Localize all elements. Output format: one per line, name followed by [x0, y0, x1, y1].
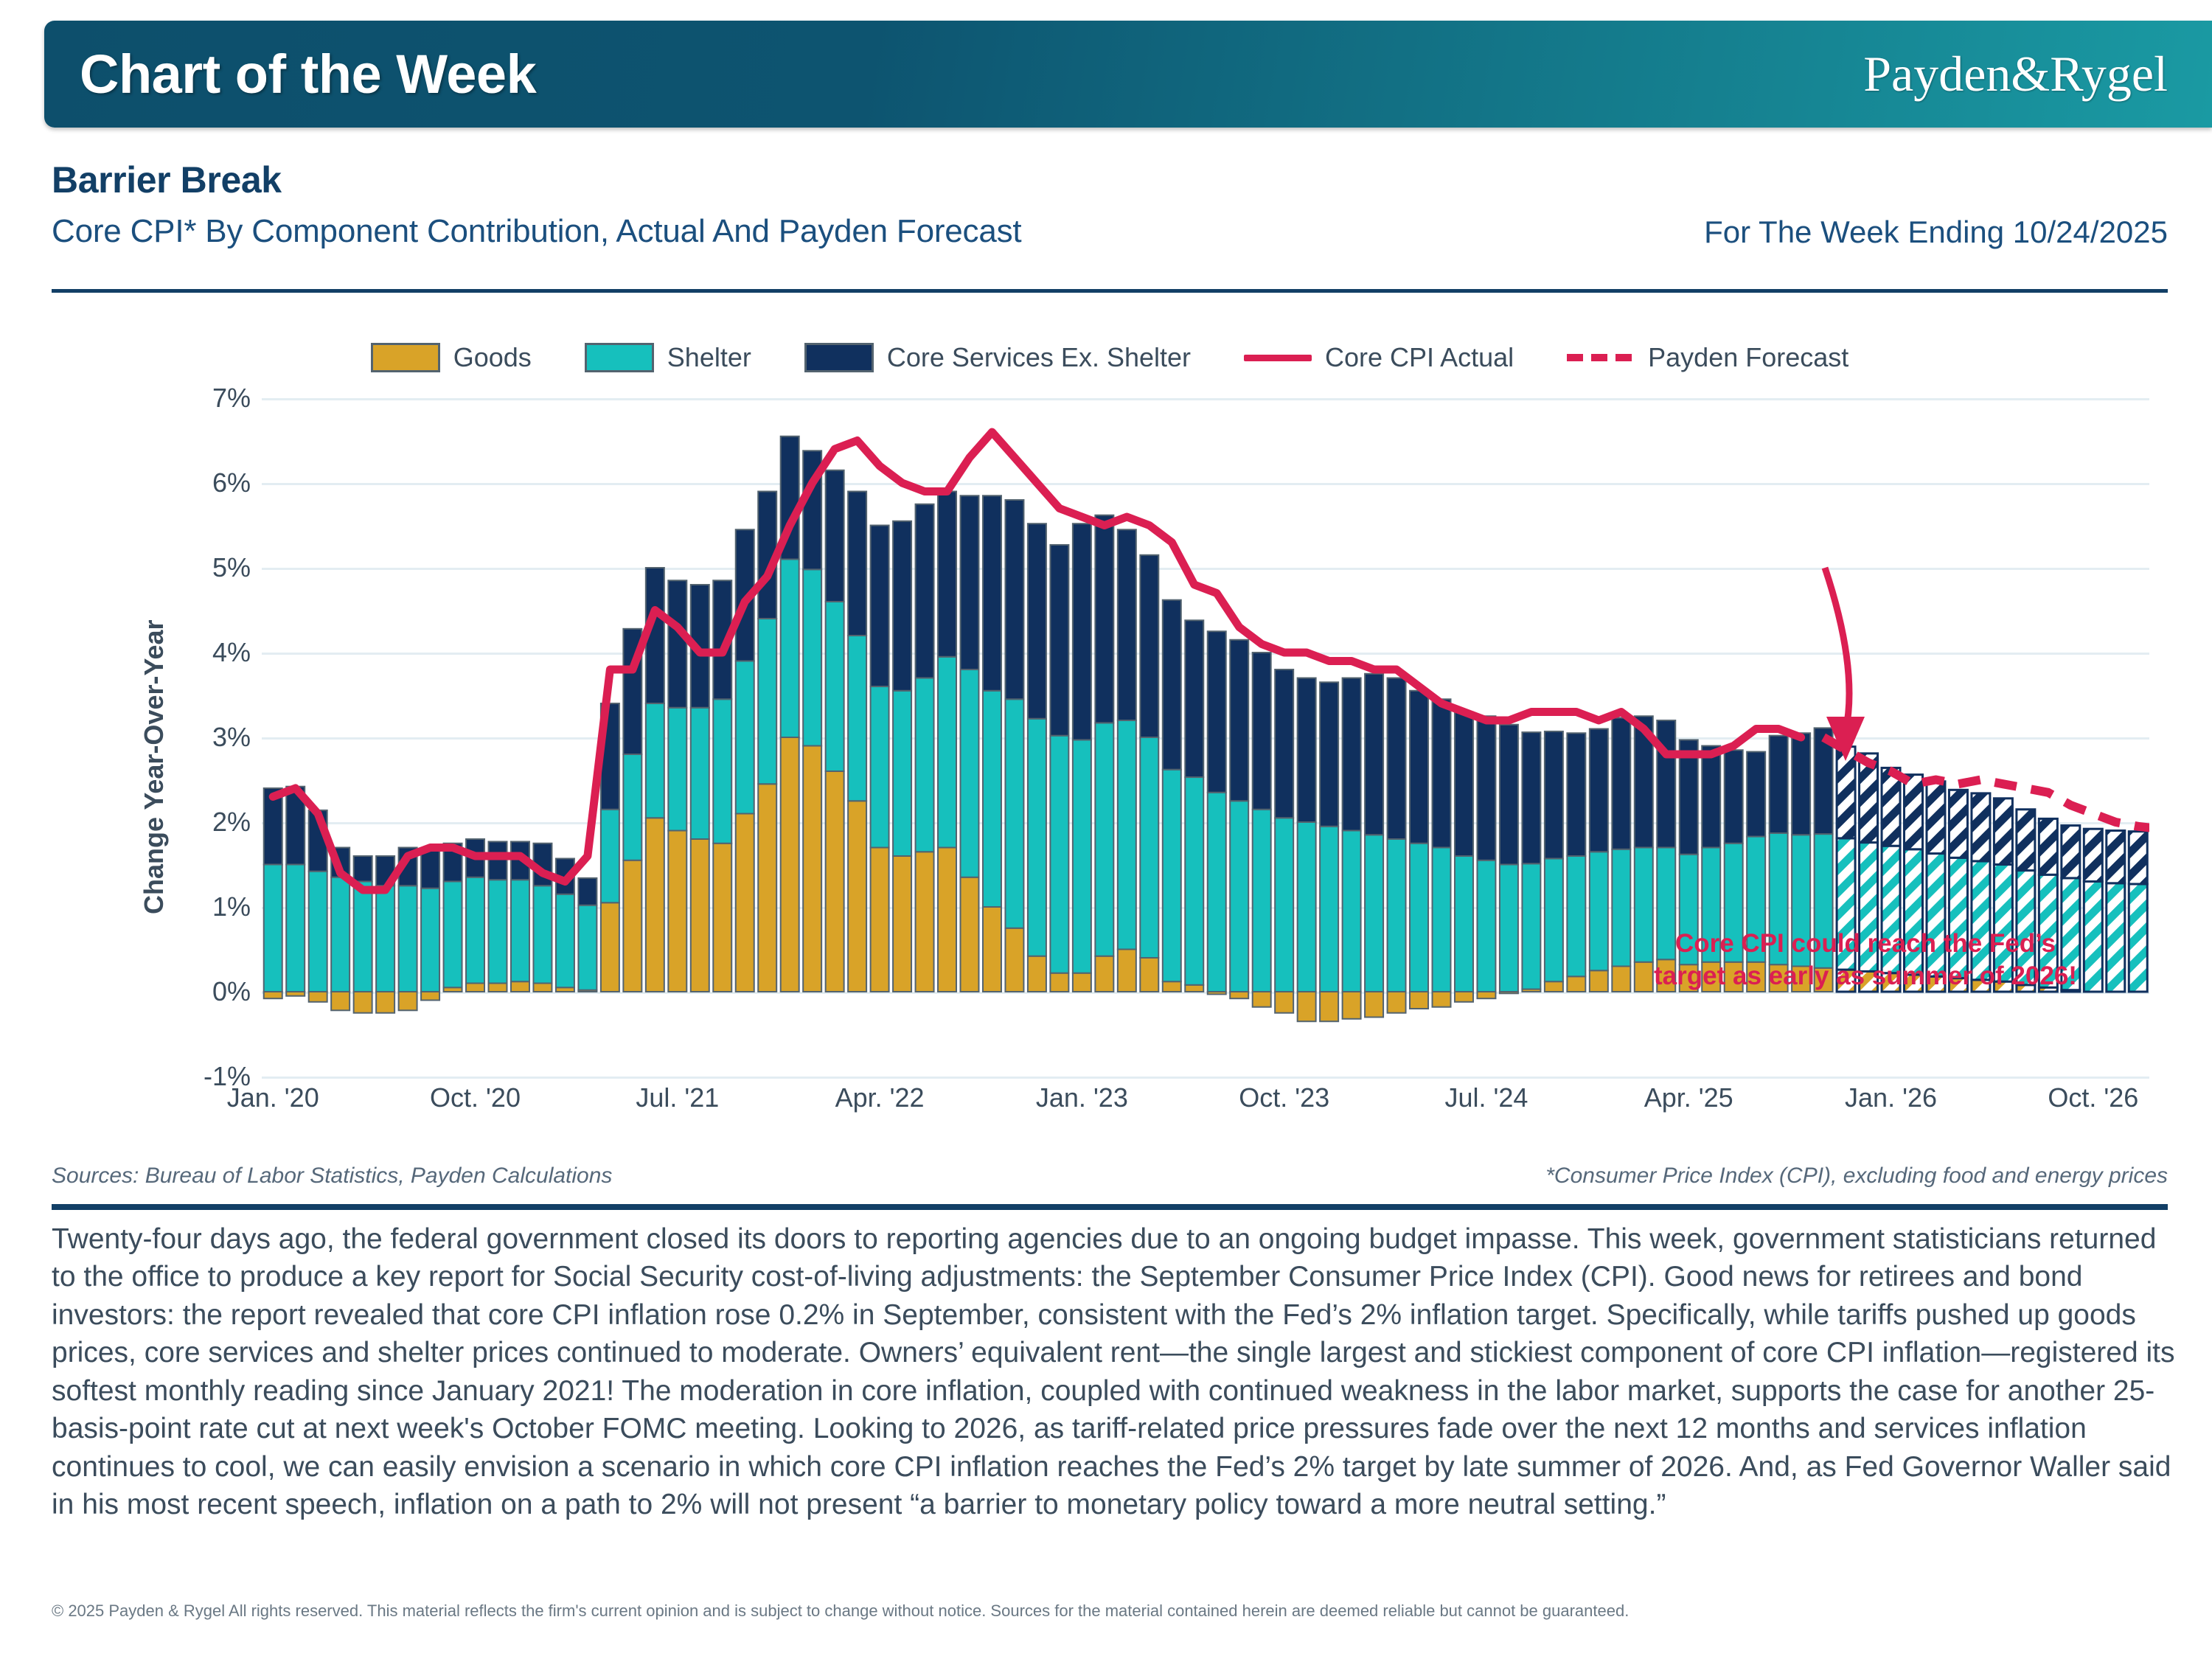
bar-segment [1005, 928, 1023, 992]
annotation-line-2: target as early as summer of 2026! [1654, 961, 2077, 990]
legend-label: Core CPI Actual [1325, 342, 1514, 373]
bar-segment [871, 848, 889, 992]
bar-segment [646, 818, 664, 992]
bar-segment [1972, 793, 1990, 861]
bar-segment [1050, 973, 1068, 992]
bar-segment [309, 992, 327, 1002]
bar-segment [1343, 678, 1361, 831]
legend-swatch [804, 343, 874, 372]
bar-segment [1073, 973, 1091, 992]
bar-segment [1657, 720, 1675, 848]
bar-segment [1837, 747, 1855, 838]
bar-segment [848, 492, 866, 636]
bar-segment [803, 746, 821, 992]
bar-segment [2084, 829, 2102, 881]
bar-segment [736, 814, 754, 992]
bar-segment [713, 699, 731, 844]
bar-segment [781, 737, 799, 992]
bar-segment [1455, 992, 1473, 1002]
bar-segment [421, 992, 439, 1001]
bar-segment [1028, 524, 1046, 719]
bar-segment [1725, 750, 1743, 844]
copyright-notice: © 2025 Payden & Rygel All rights reserve… [52, 1601, 2168, 1621]
bar-segment [1208, 631, 1226, 793]
bar-segment [871, 686, 889, 848]
x-axis-tick-label: Oct. '26 [2048, 1082, 2138, 1113]
y-axis-tick-label: 6% [162, 467, 251, 498]
bar-segment [444, 882, 462, 988]
bar-segment [916, 852, 934, 992]
bar-segment [1365, 992, 1383, 1018]
x-axis-tick-label: Jan. '20 [227, 1082, 319, 1113]
bar-segment [1275, 818, 1293, 992]
bar-segment [1410, 844, 1428, 992]
body-divider [52, 1204, 2168, 1210]
legend-label: Core Services Ex. Shelter [887, 342, 1191, 373]
chart-legend: GoodsShelterCore Services Ex. ShelterCor… [52, 335, 2168, 380]
bar-segment [1140, 555, 1158, 737]
bar-segment [1612, 718, 1630, 849]
bar-segment [938, 492, 956, 657]
legend-item-goods: Goods [371, 342, 532, 373]
bar-segment [848, 636, 866, 801]
title-block: Barrier Break Core CPI* By Component Con… [52, 159, 2168, 250]
bar-segment [466, 877, 484, 984]
bar-segment [1994, 799, 2012, 865]
bar-segment [1522, 863, 1540, 989]
bar-segment [1500, 865, 1518, 992]
bar-segment [264, 865, 282, 992]
bar-segment [916, 678, 934, 852]
bar-segment [1140, 737, 1158, 958]
bar-segment [578, 905, 597, 990]
legend-swatch [585, 343, 654, 372]
legend-item-shelter: Shelter [585, 342, 751, 373]
bar-segment [1005, 699, 1023, 928]
y-axis-ticks: -1%0%1%2%3%4%5%6%7% [155, 398, 251, 1077]
bar-segment [1388, 678, 1406, 840]
header-banner: Chart of the Week Payden&Rygel [44, 21, 2212, 128]
body-paragraph: Twenty-four days ago, the federal govern… [52, 1220, 2175, 1524]
bar-segment [1522, 732, 1540, 863]
bar-segment [1275, 992, 1293, 1013]
bar-segment [893, 691, 911, 856]
bar-segment [983, 495, 1001, 691]
legend-swatch [371, 343, 440, 372]
bar-segment [736, 661, 754, 814]
bar-segment [961, 669, 979, 877]
bar-segment [421, 888, 439, 992]
bar-segment [803, 569, 821, 745]
legend-label: Goods [453, 342, 532, 373]
bar-segment [1905, 775, 1923, 849]
bar-segment [331, 877, 349, 992]
legend-item-core-cpi-actual: Core CPI Actual [1244, 342, 1514, 373]
bar-segment [646, 703, 664, 818]
bar-segment [668, 831, 686, 992]
bar-segment [826, 771, 844, 992]
bar-segment [691, 708, 709, 839]
x-axis-tick-label: Oct. '20 [430, 1082, 521, 1113]
bar-segment [1567, 856, 1585, 976]
bar-segment [1388, 839, 1406, 992]
bar-segment [286, 865, 305, 992]
y-axis-tick-label: 4% [162, 637, 251, 668]
bar-segment [1028, 719, 1046, 956]
bar-segment [1477, 992, 1495, 998]
bar-segment [331, 992, 349, 1010]
bar-segment [938, 848, 956, 992]
bar-segment [578, 878, 597, 905]
bar-segment [1095, 515, 1113, 723]
week-ending-label: For The Week Ending 10/24/2025 [1704, 215, 2168, 250]
bar-segment [1455, 712, 1473, 857]
bar-segment [354, 992, 372, 1013]
bar-segment [421, 850, 439, 888]
source-left: Sources: Bureau of Labor Statistics, Pay… [52, 1164, 612, 1189]
bar-segment [1253, 653, 1271, 810]
x-axis-tick-label: Oct. '23 [1239, 1082, 1329, 1113]
bar-segment [1005, 500, 1023, 699]
bar-segment [1343, 992, 1361, 1019]
bar-segment [2107, 883, 2125, 992]
bar-segment [489, 984, 507, 992]
bar-segment [1253, 810, 1271, 992]
bar-segment [1927, 782, 1945, 854]
x-axis-tick-label: Apr. '25 [1644, 1082, 1733, 1113]
page-title: Chart of the Week [80, 43, 536, 105]
bar-segment [1388, 992, 1406, 1013]
chart-of-the-week-page: Chart of the Week Payden&Rygel Barrier B… [0, 0, 2212, 1659]
bar-segment [1298, 822, 1316, 992]
bar-segment [1298, 992, 1316, 1021]
bar-segment [1118, 950, 1136, 992]
bar-segment [1320, 827, 1338, 992]
x-axis-tick-label: Jul. '21 [636, 1082, 719, 1113]
bar-segment [1567, 733, 1585, 856]
bar-segment [758, 784, 776, 992]
chart-plot-area: Change Year-Over-Year -1%0%1%2%3%4%5%6%7… [52, 398, 2168, 1121]
bar-segment [399, 992, 417, 1010]
bar-segment [533, 984, 552, 992]
bar-segment [1095, 723, 1113, 956]
bar-segment [1410, 992, 1428, 1009]
bar-segment [1185, 985, 1203, 992]
bar-segment [1118, 529, 1136, 720]
bar-segment [668, 580, 686, 708]
legend-item-payden-forecast: Payden Forecast [1567, 342, 1848, 373]
chart-subtitle: Core CPI* By Component Contribution, Act… [52, 213, 1021, 250]
bar-segment [1567, 976, 1585, 992]
bar-segment [2039, 818, 2057, 874]
bar-segment [1253, 992, 1271, 1007]
bar-segment [1545, 981, 1563, 992]
bar-segment [1163, 770, 1181, 982]
bar-segment [1545, 858, 1563, 981]
bar-segment [1230, 801, 1248, 992]
bar-segment [871, 526, 889, 687]
source-right: *Consumer Price Index (CPI), excluding f… [1545, 1164, 2168, 1189]
bar-segment [533, 886, 552, 983]
y-axis-tick-label: 3% [162, 722, 251, 753]
bar-segment [1545, 731, 1563, 858]
bar-segment [376, 886, 394, 992]
bar-segment [399, 886, 417, 992]
bar-segment [623, 754, 641, 860]
bar-segment [1118, 720, 1136, 950]
bar-segment [1477, 716, 1495, 860]
bar-segment [916, 504, 934, 678]
bar-segment [1275, 669, 1293, 818]
title-divider [52, 289, 2168, 293]
y-axis-tick-label: 2% [162, 807, 251, 838]
y-axis-tick-label: 0% [162, 976, 251, 1007]
bar-segment [1230, 992, 1248, 998]
bar-segment [668, 708, 686, 831]
chart-headline: Barrier Break [52, 159, 2168, 201]
bar-segment [1230, 640, 1248, 801]
bar-segment [2129, 832, 2147, 884]
bar-segment [1073, 524, 1091, 740]
x-axis-tick-label: Apr. '22 [835, 1082, 925, 1113]
bar-segment [1612, 849, 1630, 967]
bar-segment [1477, 860, 1495, 992]
bar-segment [623, 860, 641, 992]
bar-segment [376, 992, 394, 1013]
legend-label: Payden Forecast [1648, 342, 1848, 373]
annotation-arrow-shaft [1825, 568, 1849, 731]
annotation-line-1: Core CPI could reach the Fed’s [1675, 929, 2056, 958]
bar-segment [758, 619, 776, 784]
y-axis-tick-label: 1% [162, 891, 251, 922]
bar-segment [264, 992, 282, 998]
bar-segment [2017, 810, 2035, 871]
bar-segment [489, 880, 507, 983]
bar-segment [1185, 777, 1203, 985]
bar-segment [556, 894, 574, 988]
bar-segment [1095, 956, 1113, 992]
bar-segment [1433, 992, 1451, 1007]
bar-segment [1320, 682, 1338, 827]
bar-segment [826, 470, 844, 602]
bar-segment [893, 521, 911, 691]
bar-segment [601, 810, 619, 903]
bar-segment [1208, 793, 1226, 992]
bar-segment [781, 560, 799, 738]
bar-segment [1298, 678, 1316, 823]
forecast-annotation: Core CPI could reach the Fed’s target as… [1630, 928, 2101, 992]
bar-segment [601, 902, 619, 992]
bar-segment [1365, 674, 1383, 835]
legend-line-swatch [1244, 355, 1312, 361]
bar-segment [354, 856, 372, 882]
x-axis-tick-label: Jul. '24 [1444, 1082, 1528, 1113]
bar-segment [466, 984, 484, 992]
bar-segment [1949, 790, 1967, 858]
bar-segment [1792, 733, 1810, 835]
bar-segment [691, 839, 709, 992]
bar-segment [1140, 958, 1158, 992]
bar-segment [2062, 826, 2080, 878]
legend-item-core-services-ex-shelter: Core Services Ex. Shelter [804, 342, 1191, 373]
x-axis-tick-label: Jan. '23 [1036, 1082, 1128, 1113]
gridline [262, 1077, 2149, 1079]
bar-segment [2129, 884, 2147, 992]
legend-label: Shelter [667, 342, 751, 373]
bar-segment [848, 801, 866, 992]
bar-segment [489, 841, 507, 880]
bar-segment [1612, 967, 1630, 992]
bar-segment [354, 882, 372, 992]
bar-segment [511, 981, 529, 992]
bar-segment [961, 495, 979, 669]
bar-segment [1050, 545, 1068, 736]
bar-segment [1433, 848, 1451, 992]
legend-dash-swatch [1567, 354, 1635, 361]
bar-segment [1702, 746, 1720, 848]
bar-segment [1320, 992, 1338, 1021]
bar-segment [893, 856, 911, 992]
bar-segment [1163, 981, 1181, 992]
bar-segment [713, 844, 731, 992]
bar-segment [1500, 725, 1518, 865]
bar-segment [1590, 852, 1608, 970]
bar-segment [1770, 736, 1788, 833]
x-axis-tick-label: Jan. '26 [1845, 1082, 1937, 1113]
bar-segment [1185, 620, 1203, 777]
bar-segment [1343, 831, 1361, 992]
bar-segment [826, 602, 844, 771]
bar-segment [983, 691, 1001, 907]
source-row: Sources: Bureau of Labor Statistics, Pay… [52, 1164, 2168, 1189]
bar-segment [1590, 729, 1608, 852]
bar-segment [309, 872, 327, 992]
bar-segment [1433, 699, 1451, 847]
y-axis-tick-label: 7% [162, 383, 251, 414]
bar-segment [1747, 752, 1765, 837]
bar-segment [983, 907, 1001, 992]
bar-segment [1410, 691, 1428, 844]
bar-segment [1590, 970, 1608, 992]
bar-segment [1455, 856, 1473, 992]
bar-segment [1028, 956, 1046, 992]
bar-segment [961, 877, 979, 992]
y-axis-tick-label: 5% [162, 552, 251, 583]
bar-segment [1073, 740, 1091, 973]
bar-segment [938, 657, 956, 848]
payden-rygel-logo: Payden&Rygel [1863, 45, 2168, 103]
bar-segment [511, 880, 529, 981]
bar-segment [2107, 831, 2125, 883]
bar-segment [1050, 736, 1068, 973]
bar-segment [1163, 600, 1181, 770]
bar-segment [1365, 835, 1383, 992]
